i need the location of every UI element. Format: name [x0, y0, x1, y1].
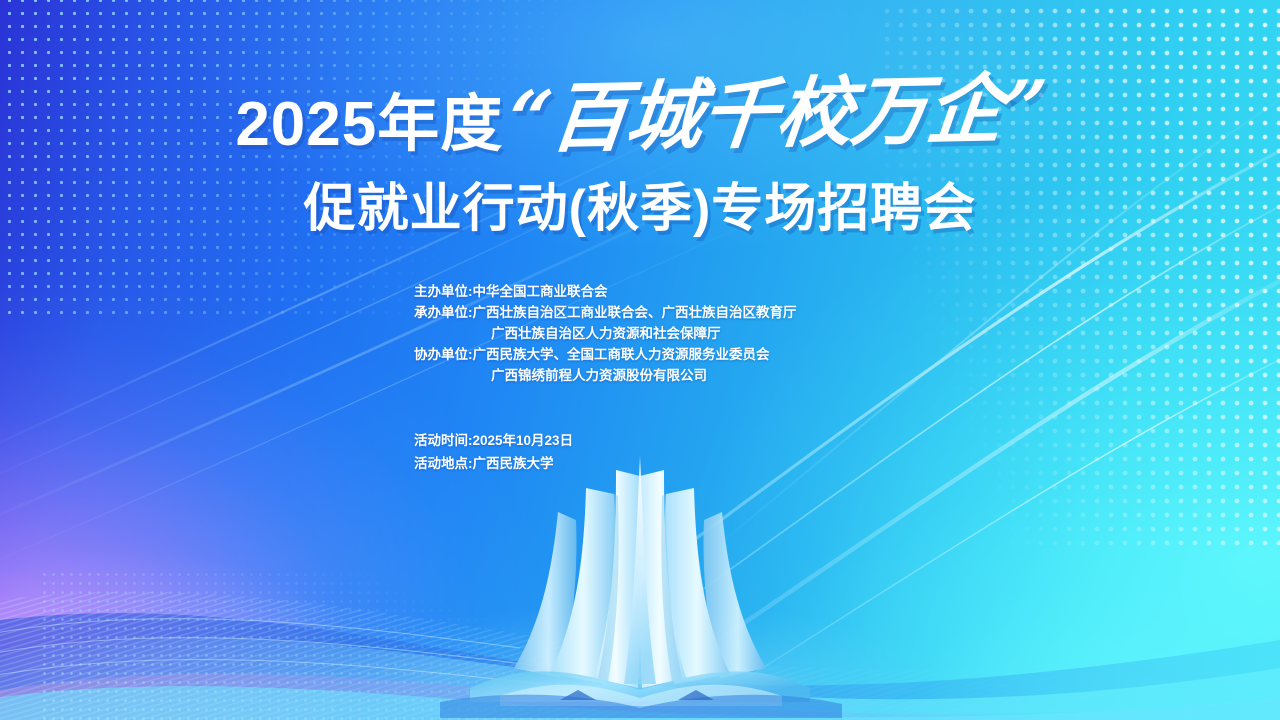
info-value-coorganizer-cont: 广西锦绣前程人力资源股份有限公司: [491, 365, 707, 386]
info-row-coorganizer: 协办单位: 广西民族大学、全国工商联人力资源服务业委员会: [414, 344, 934, 365]
event-venue-label: 活动地点:: [414, 452, 473, 475]
organizer-info-block: 主办单位: 中华全国工商业联合会 承办单位: 广西壮族自治区工商业联合会、广西壮…: [414, 281, 934, 386]
title-brush-text: “百城千校万企”: [505, 70, 1049, 157]
quote-close: ”: [998, 63, 1050, 153]
event-date-label: 活动时间:: [414, 429, 473, 452]
info-row-coorganizer-cont: 广西锦绣前程人力资源股份有限公司: [414, 365, 934, 386]
title-year-text: 2025年度: [235, 94, 503, 156]
info-label-coorganizer: 协办单位:: [414, 344, 473, 365]
poster-canvas: 2025年度 “百城千校万企” 促就业行动(秋季)专场招聘会 主办单位: 中华全…: [0, 0, 1280, 720]
info-value-organizer: 广西壮族自治区工商业联合会、广西壮族自治区教育厅: [473, 302, 797, 323]
landmark-building-graphic: [410, 450, 870, 720]
info-label-host: 主办单位:: [414, 281, 473, 302]
info-row-host: 主办单位: 中华全国工商业联合会: [414, 281, 934, 302]
event-date-row: 活动时间: 2025年10月23日: [414, 429, 573, 452]
event-date-value: 2025年10月23日: [473, 429, 574, 452]
event-venue-value: 广西民族大学: [473, 452, 554, 475]
poster-subtitle: 促就业行动(秋季)专场招聘会: [0, 178, 1280, 240]
poster-title: 2025年度 “百城千校万企”: [0, 72, 1280, 156]
title-brush-core: 百城千校万企: [547, 64, 1007, 162]
info-row-organizer: 承办单位: 广西壮族自治区工商业联合会、广西壮族自治区教育厅: [414, 302, 934, 323]
event-venue-row: 活动地点: 广西民族大学: [414, 452, 573, 475]
info-value-coorganizer: 广西民族大学、全国工商联人力资源服务业委员会: [473, 344, 770, 365]
info-label-organizer: 承办单位:: [414, 302, 473, 323]
info-value-organizer-cont: 广西壮族自治区人力资源和社会保障厅: [491, 323, 721, 344]
building-icon: [410, 450, 870, 720]
info-value-host: 中华全国工商业联合会: [473, 281, 608, 302]
event-meta-block: 活动时间: 2025年10月23日 活动地点: 广西民族大学: [414, 429, 573, 475]
info-row-organizer-cont: 广西壮族自治区人力资源和社会保障厅: [414, 323, 934, 344]
